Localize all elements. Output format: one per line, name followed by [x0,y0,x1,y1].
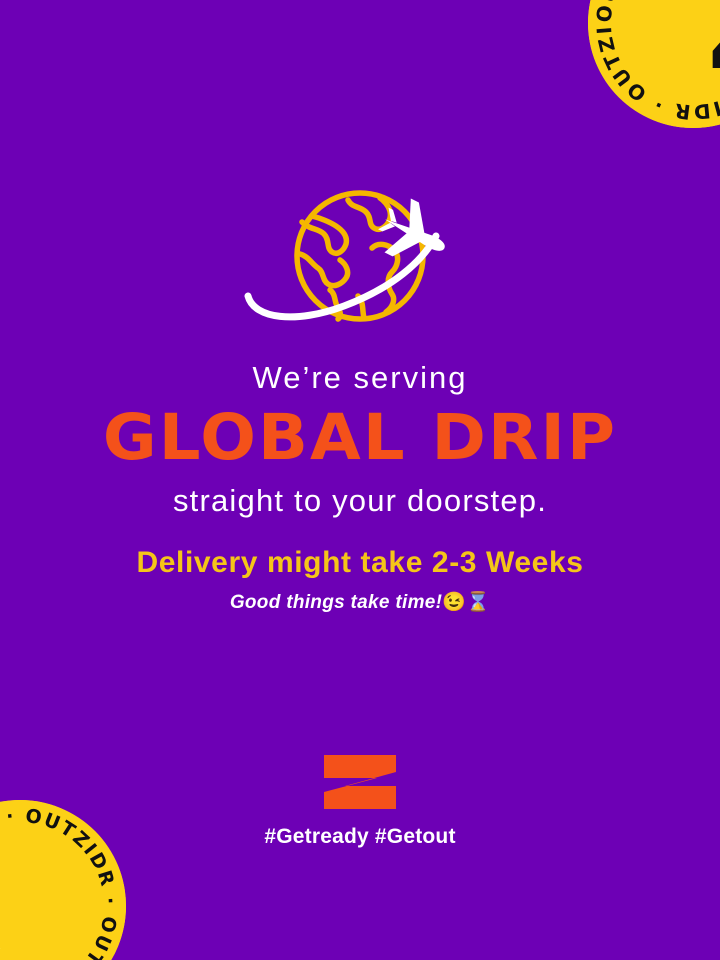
badge-wordmark-text: OUTZIDR [0,927,1,955]
brand-badge-bottom-left: OUTZIDR · OUTZIDR · OUTZIDR · OUTZIDR · … [0,800,126,960]
brand-badge-top-right: OUTZIDR · OUTZIDR · OUTZIDR · OUTZIDR · … [588,0,720,128]
badge-center-letter: Z [706,0,720,104]
delivery-notice-block: Delivery might take 2-3 Weeks Good thing… [0,548,720,612]
subhead-text: straight to your doorstep. [0,485,720,516]
kicker-text: We’re serving [0,362,720,393]
wink-hourglass-emoji: 😉⌛ [442,592,490,613]
globe-airplane-icon [240,178,480,343]
headline-block: We’re serving GLOBAL DRIP straight to yo… [0,362,720,516]
z-mark [324,755,396,809]
delivery-note-text: Good things take time! [230,592,442,613]
page-title: GLOBAL DRIP [0,406,720,469]
poster-canvas: OUTZIDR · OUTZIDR · OUTZIDR · OUTZIDR · … [0,0,720,960]
delivery-estimate-text: Delivery might take 2-3 Weeks [0,548,720,578]
delivery-note-row: Good things take time!😉⌛ [0,593,720,612]
z-logo-icon [321,753,399,811]
